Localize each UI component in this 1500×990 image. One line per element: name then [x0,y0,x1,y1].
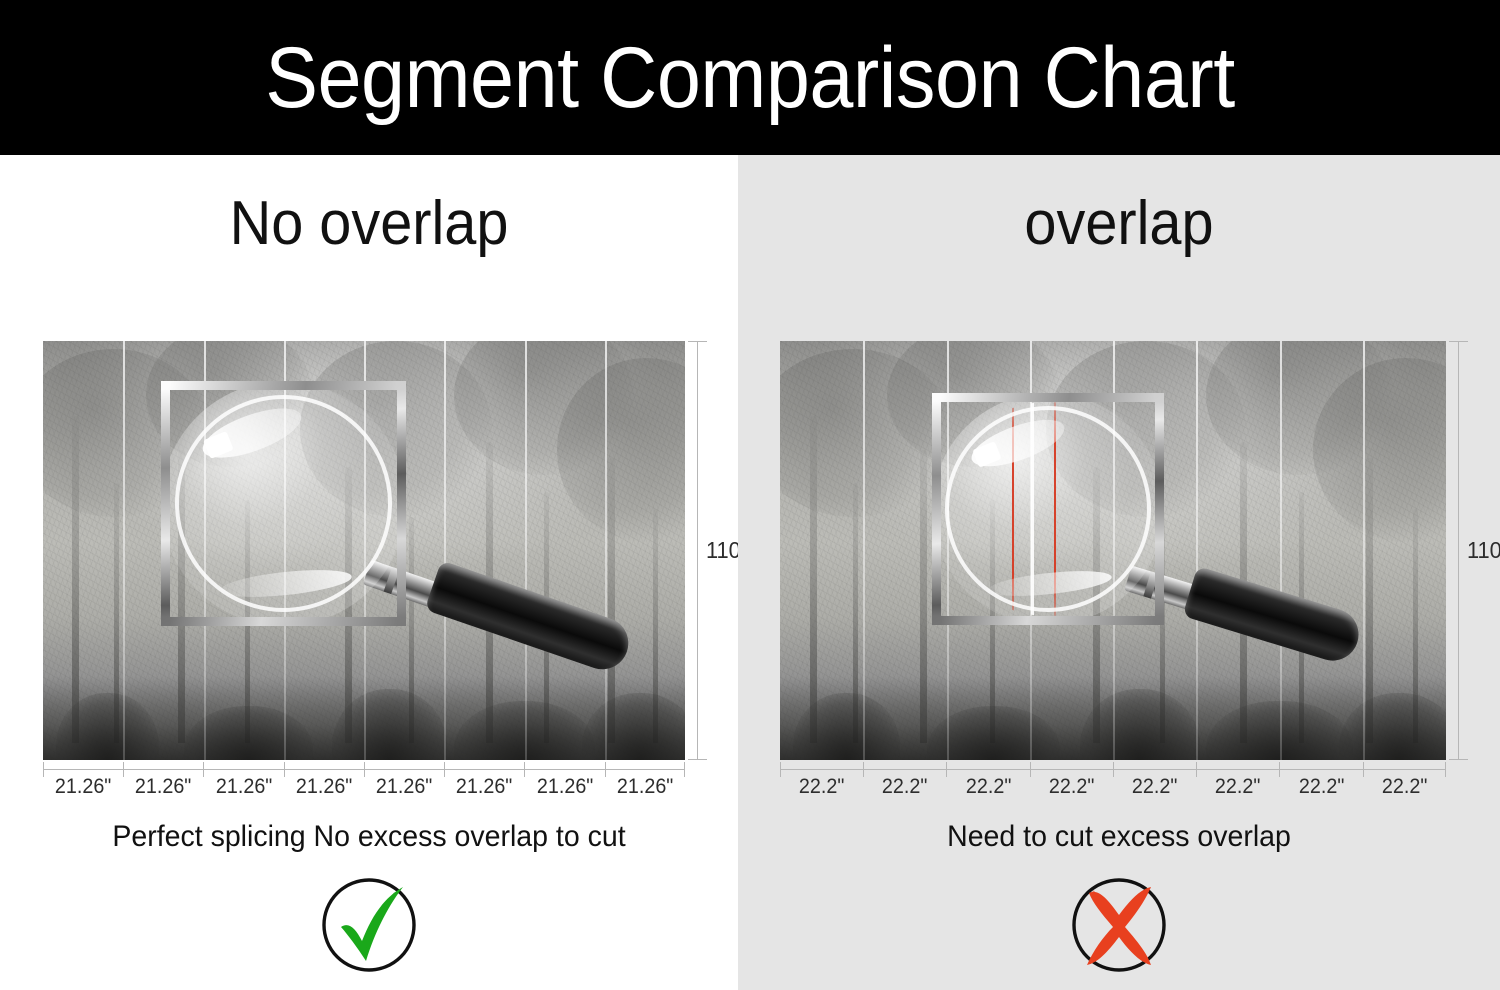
panel-overlap: overlap [738,155,1500,990]
panel-no-overlap: No overlap [0,155,738,990]
red-cross-icon [1067,873,1171,977]
mural-seam [123,341,125,760]
mural-seam [605,341,607,760]
segment-label: 22.2" [1282,775,1360,799]
dimension-cap [688,759,707,760]
dimension-cap [688,341,707,342]
segment-label: 22.2" [866,775,944,799]
segment-label: 21.26" [45,775,120,799]
mural-seam [947,341,949,760]
mural-seam [204,341,206,760]
segment-label: 22.2" [1199,775,1277,799]
mural-seam [863,341,865,760]
verdict-right [738,873,1500,977]
caption-left: Perfect splicing No excess overlap to cu… [18,820,719,854]
segment-label: 21.26" [447,775,522,799]
segment-labels-left: 21.26" 21.26" 21.26" 21.26" 21.26" 21.26… [43,775,685,799]
height-label-right: 110" [1467,537,1500,564]
segment-label: 22.2" [1115,775,1193,799]
mural-seam [1113,341,1115,760]
dimension-cap [1449,341,1468,342]
segment-label: 21.26" [366,775,441,799]
segment-label: 22.2" [782,775,860,799]
segment-label: 22.2" [1365,775,1443,799]
mural-seam [1363,341,1365,760]
segment-labels-right: 22.2" 22.2" 22.2" 22.2" 22.2" 22.2" 22.2… [780,775,1446,799]
dimension-cap [1449,759,1468,760]
height-label-left: 110" [706,537,738,564]
segment-label: 21.26" [607,775,682,799]
segment-label: 21.26" [286,775,361,799]
segment-label: 21.26" [206,775,281,799]
segment-comparison-page: Segment Comparison Chart No overlap [0,0,1500,990]
height-dimension-line-right [1458,341,1459,760]
green-check-icon [317,873,421,977]
title-bar: Segment Comparison Chart [0,0,1500,155]
mural-right [780,341,1446,760]
verdict-left [0,873,738,977]
mural-seam [284,341,286,760]
segment-label: 22.2" [949,775,1027,799]
segment-label: 21.26" [126,775,201,799]
mural-left-wrapper [43,341,685,760]
panel-heading-left: No overlap [26,193,712,255]
comparison-panels: No overlap [0,155,1500,990]
height-dimension-line-left [697,341,698,760]
mural-seam [444,341,446,760]
segment-label: 21.26" [527,775,602,799]
panel-heading-right: overlap [765,193,1474,255]
segment-label: 22.2" [1032,775,1110,799]
mural-seam [364,341,366,760]
mural-right-wrapper [780,341,1446,760]
page-title: Segment Comparison Chart [60,0,1440,155]
mural-seam [1280,341,1282,760]
mural-seam [1196,341,1198,760]
mural-left [43,341,685,760]
caption-right: Need to cut excess overlap [757,820,1481,854]
mural-seam [1030,341,1032,760]
mural-seam [525,341,527,760]
